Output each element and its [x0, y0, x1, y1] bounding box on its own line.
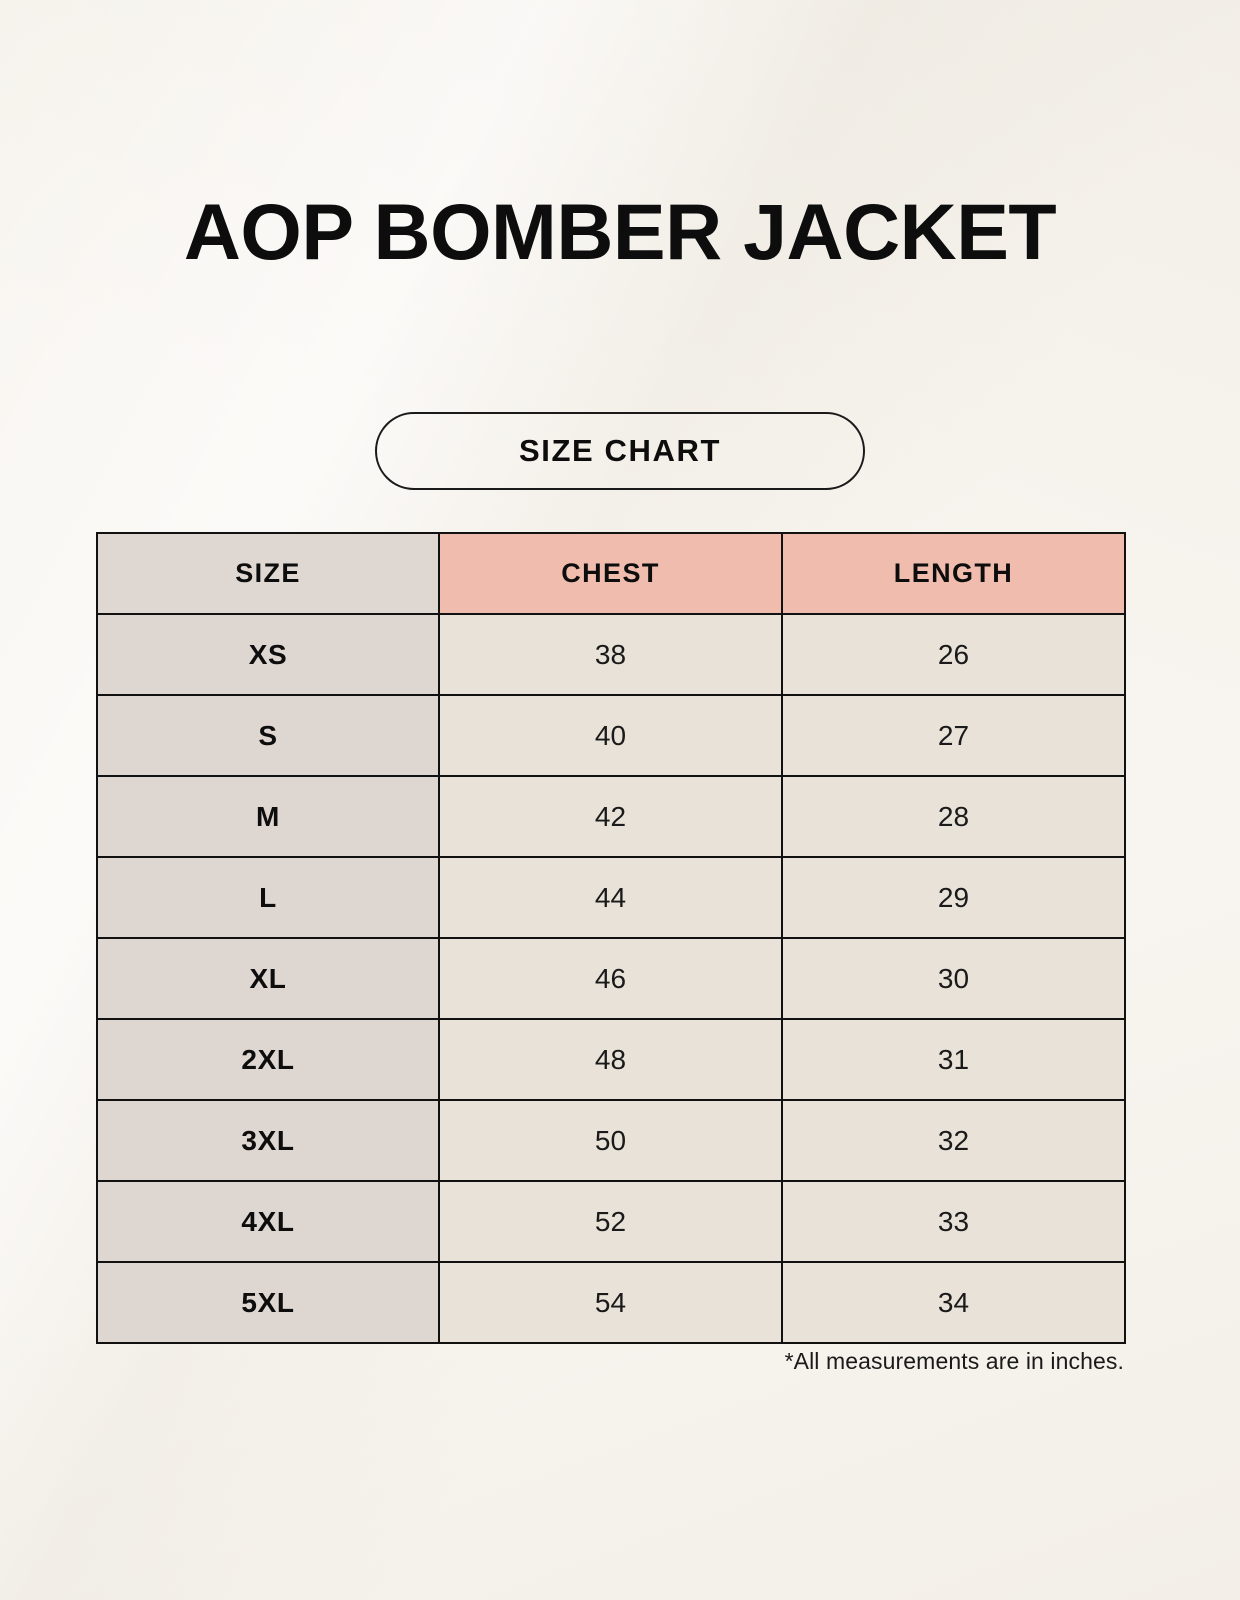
- cell-length: 34: [782, 1262, 1125, 1343]
- cell-size: 2XL: [97, 1019, 439, 1100]
- table-row: 4XL 52 33: [97, 1181, 1125, 1262]
- table-row: 2XL 48 31: [97, 1019, 1125, 1100]
- table-row: S 40 27: [97, 695, 1125, 776]
- size-chart-badge: SIZE CHART: [375, 412, 865, 490]
- cell-length: 28: [782, 776, 1125, 857]
- cell-size: M: [97, 776, 439, 857]
- cell-length: 32: [782, 1100, 1125, 1181]
- table-row: XS 38 26: [97, 614, 1125, 695]
- table-row: 5XL 54 34: [97, 1262, 1125, 1343]
- cell-size: 4XL: [97, 1181, 439, 1262]
- cell-length: 30: [782, 938, 1125, 1019]
- cell-chest: 38: [439, 614, 782, 695]
- table-header-row: SIZE CHEST LENGTH: [97, 533, 1125, 614]
- cell-length: 31: [782, 1019, 1125, 1100]
- size-table-body: XS 38 26 S 40 27 M 42 28 L 44 29: [97, 614, 1125, 1343]
- cell-length: 29: [782, 857, 1125, 938]
- cell-chest: 52: [439, 1181, 782, 1262]
- cell-size: 3XL: [97, 1100, 439, 1181]
- cell-chest: 50: [439, 1100, 782, 1181]
- size-chart-badge-container: SIZE CHART: [0, 412, 1240, 490]
- cell-chest: 44: [439, 857, 782, 938]
- table-row: L 44 29: [97, 857, 1125, 938]
- cell-size: L: [97, 857, 439, 938]
- cell-size: XS: [97, 614, 439, 695]
- cell-chest: 42: [439, 776, 782, 857]
- table-row: 3XL 50 32: [97, 1100, 1125, 1181]
- cell-chest: 48: [439, 1019, 782, 1100]
- cell-size: 5XL: [97, 1262, 439, 1343]
- table-row: XL 46 30: [97, 938, 1125, 1019]
- size-table-container: SIZE CHEST LENGTH XS 38 26 S 40 27 M: [96, 532, 1124, 1344]
- cell-size: XL: [97, 938, 439, 1019]
- measurement-footnote: *All measurements are in inches.: [96, 1348, 1124, 1375]
- cell-chest: 46: [439, 938, 782, 1019]
- cell-length: 27: [782, 695, 1125, 776]
- cell-chest: 40: [439, 695, 782, 776]
- cell-length: 33: [782, 1181, 1125, 1262]
- size-table: SIZE CHEST LENGTH XS 38 26 S 40 27 M: [96, 532, 1126, 1344]
- column-header-chest: CHEST: [439, 533, 782, 614]
- size-chart-page: AOP BOMBER JACKET SIZE CHART SIZE CHEST …: [0, 0, 1240, 1600]
- cell-length: 26: [782, 614, 1125, 695]
- page-title: AOP BOMBER JACKET: [0, 195, 1240, 268]
- size-table-header: SIZE CHEST LENGTH: [97, 533, 1125, 614]
- cell-size: S: [97, 695, 439, 776]
- column-header-length: LENGTH: [782, 533, 1125, 614]
- column-header-size: SIZE: [97, 533, 439, 614]
- size-chart-badge-label: SIZE CHART: [519, 433, 721, 469]
- table-row: M 42 28: [97, 776, 1125, 857]
- cell-chest: 54: [439, 1262, 782, 1343]
